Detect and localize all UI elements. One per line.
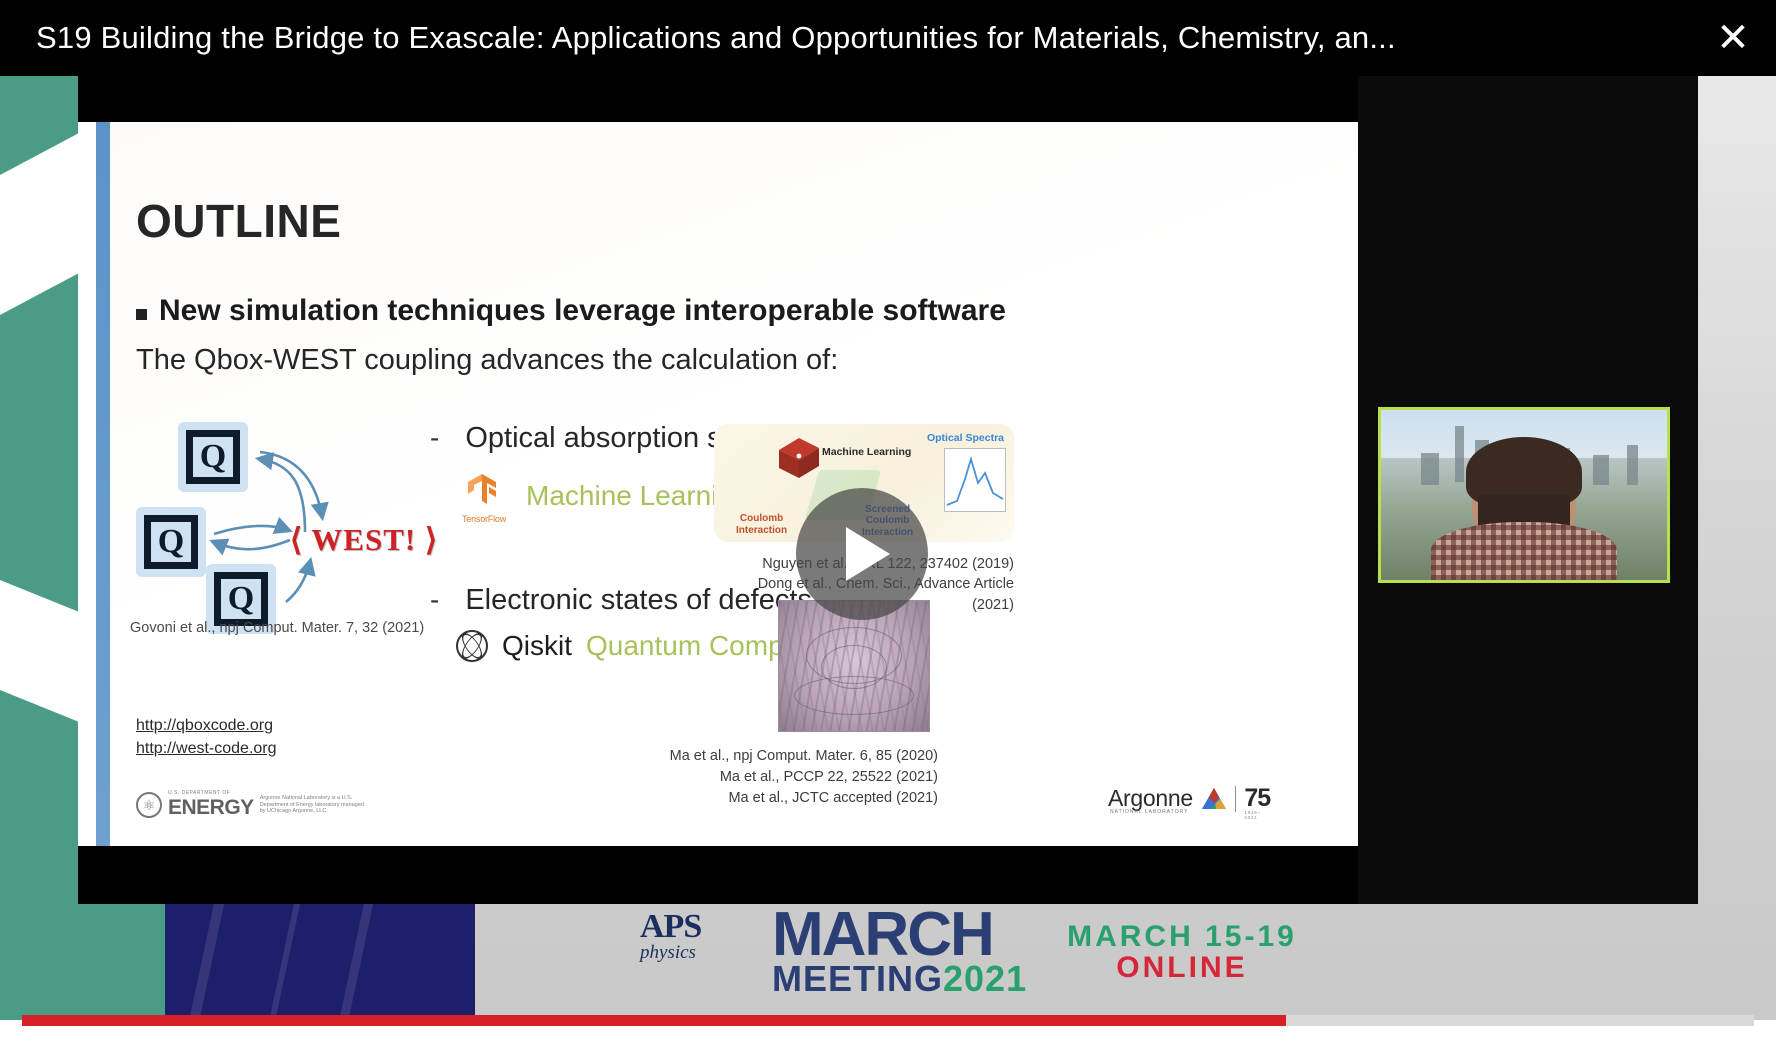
figure-optical-spectra-caption: Optical Spectra xyxy=(927,432,1004,444)
march-meeting-wordmark: MARCH MEETING2021 xyxy=(772,908,1027,994)
argonne-triangle-icon xyxy=(1201,787,1227,811)
title-bar: S19 Building the Bridge to Exascale: App… xyxy=(0,0,1776,76)
slide-bullet-text: New simulation techniques leverage inter… xyxy=(159,294,1006,328)
slide-bullet: New simulation techniques leverage inter… xyxy=(136,294,1276,328)
qbox-letter-3: Q xyxy=(214,572,268,626)
bullet-square-icon xyxy=(136,309,147,320)
qbox-letter-2: Q xyxy=(144,515,198,569)
west-label: ⟨ WEST! ⟩ xyxy=(290,522,438,558)
slide-urls[interactable]: http://qboxcode.org http://west-code.org xyxy=(136,714,277,760)
item-1-dash: - xyxy=(430,422,439,454)
meeting-dates: MARCH 15-19 xyxy=(1067,922,1297,953)
march-word: MARCH xyxy=(772,908,1027,963)
meeting-year: 2021 xyxy=(943,958,1027,999)
aps-logo: APS physics xyxy=(640,908,732,984)
citations-bottom: Ma et al., npj Comput. Mater. 6, 85 (202… xyxy=(518,746,938,809)
figure-spectrum-plot xyxy=(944,448,1006,512)
screen-root: Z OUTLINE New simulation techniques leve… xyxy=(0,0,1776,1050)
citation-ma-3: Ma et al., JCTC accepted (2021) xyxy=(518,788,938,809)
citation-ma-2: Ma et al., PCCP 22, 25522 (2021) xyxy=(518,767,938,788)
page-title: S19 Building the Bridge to Exascale: App… xyxy=(0,21,1690,55)
qiskit-icon xyxy=(456,630,488,662)
video-progress-fill xyxy=(22,1015,1286,1026)
quantum-computer-photo xyxy=(778,600,930,732)
play-button[interactable] xyxy=(796,488,928,620)
argonne-divider xyxy=(1235,786,1237,812)
tensorflow-row: TensorFlow Machine Learning xyxy=(456,470,749,522)
meeting-label: MEETING xyxy=(772,958,943,999)
argonne-anniversary-badge: 75 xyxy=(1244,784,1270,813)
qbox-node-1: Q xyxy=(178,422,248,492)
close-icon[interactable]: ✕ xyxy=(1690,0,1776,76)
qbox-letter-1: Q xyxy=(186,430,240,484)
slide-accent-bar xyxy=(96,122,110,846)
aps-march-meeting-footer: APS physics MARCH MEETING2021 MARCH 15-1… xyxy=(640,908,1297,994)
tensorflow-icon: TensorFlow xyxy=(456,470,512,522)
video-canvas[interactable]: OUTLINE New simulation techniques levera… xyxy=(78,66,1358,904)
slide-title: OUTLINE xyxy=(136,194,341,248)
red-cube-icon xyxy=(776,436,822,480)
item-2-dash: - xyxy=(430,584,439,616)
argonne-wordmark: Argonne xyxy=(1108,785,1193,812)
argonne-anniversary-years: 1946–2021 xyxy=(1244,810,1268,820)
doe-logo-word: ENERGY xyxy=(168,796,254,820)
argonne-sub: NATIONAL LABORATORY xyxy=(1110,809,1188,815)
qiskit-name: Qiskit xyxy=(502,630,572,662)
doe-logo-sub: Argonne National Laboratory is a U.S. De… xyxy=(260,795,370,816)
play-triangle-icon xyxy=(846,527,890,581)
tensorflow-caption: TensorFlow xyxy=(456,514,512,524)
citation-govoni: Govoni et al., npj Comput. Mater. 7, 32 … xyxy=(130,620,424,636)
speaker-webcam[interactable] xyxy=(1378,407,1670,583)
letterbox-bottom xyxy=(78,846,1358,904)
argonne-logo: Argonne NATIONAL LABORATORY 75 1946–2021 xyxy=(1108,784,1270,813)
url-westcode[interactable]: http://west-code.org xyxy=(136,737,277,760)
video-progress-bar[interactable] xyxy=(22,1015,1754,1026)
figure-coulomb-caption: CoulombInteraction xyxy=(736,513,787,536)
presentation-slide: OUTLINE New simulation techniques levera… xyxy=(78,122,1358,846)
doe-energy-logo: ⚛ U.S. DEPARTMENT OF ENERGY Argonne Nati… xyxy=(136,790,370,820)
meeting-word: MEETING2021 xyxy=(772,963,1027,995)
qbox-node-2: Q xyxy=(136,507,206,577)
meeting-mode: ONLINE xyxy=(1116,953,1247,984)
figure-ml-caption: Machine Learning xyxy=(822,446,911,458)
aps-physics-word: physics xyxy=(640,942,732,964)
url-qboxcode[interactable]: http://qboxcode.org xyxy=(136,714,277,737)
video-player[interactable]: OUTLINE New simulation techniques levera… xyxy=(78,66,1698,904)
doe-seal-icon: ⚛ xyxy=(136,792,162,818)
aps-letters: APS xyxy=(640,908,732,946)
meeting-dates-block: MARCH 15-19 ONLINE xyxy=(1067,922,1297,983)
speaker-torso xyxy=(1431,522,1617,580)
citation-ma-1: Ma et al., npj Comput. Mater. 6, 85 (202… xyxy=(518,746,938,767)
slide-subtitle: The Qbox-WEST coupling advances the calc… xyxy=(136,344,838,377)
